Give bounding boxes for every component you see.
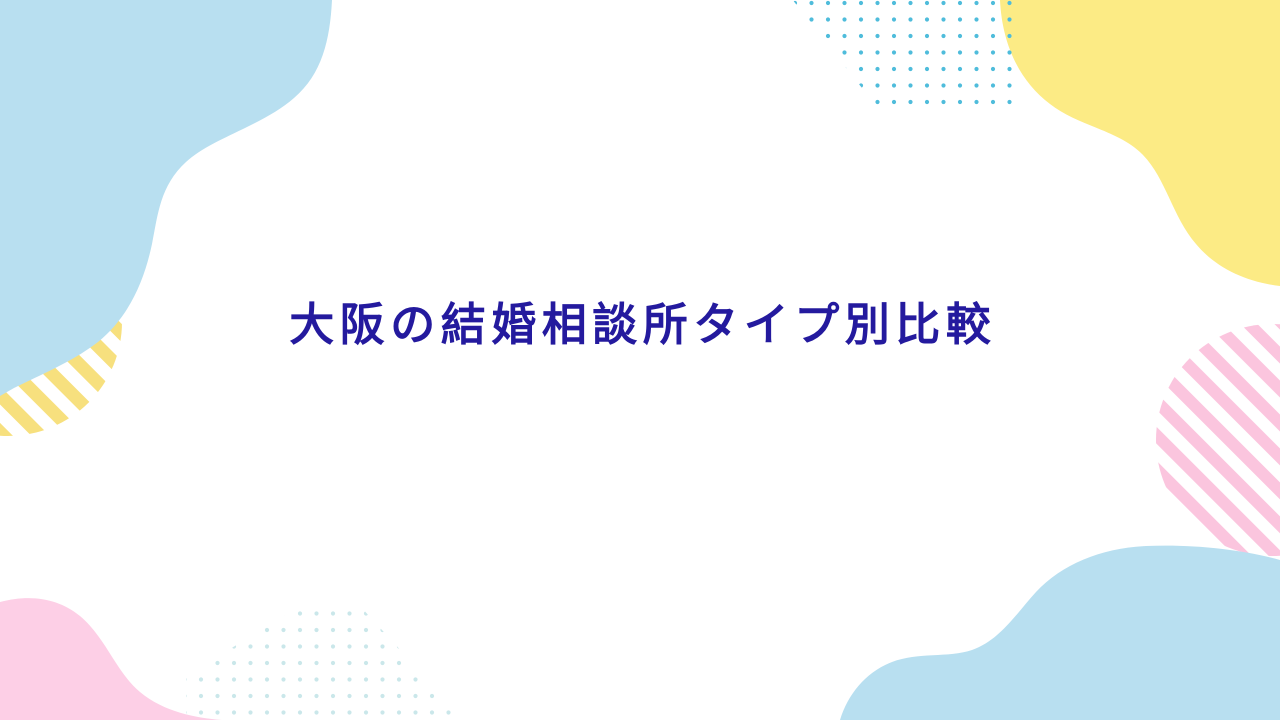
title-container: 大阪の結婚相談所タイプ別比較 [0, 0, 1280, 720]
title-slide: 大阪の結婚相談所タイプ別比較 [0, 0, 1280, 720]
page-title: 大阪の結婚相談所タイプ別比較 [284, 298, 997, 352]
